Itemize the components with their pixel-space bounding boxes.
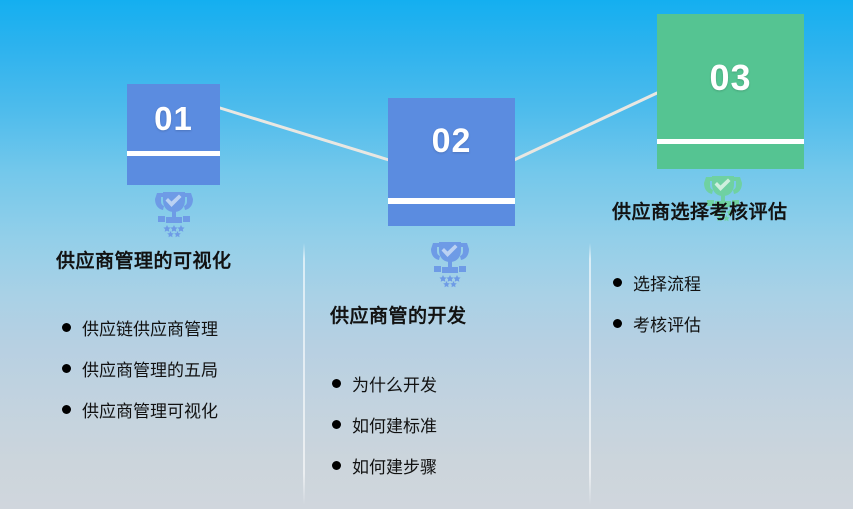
card-title-01: 供应商管理的可视化: [56, 246, 232, 273]
bullet-dot-icon: [332, 420, 341, 429]
step-number-box-03[interactable]: 03: [657, 14, 804, 169]
card-title-02: 供应商管的开发: [330, 301, 467, 328]
connector-02-to-03: [514, 93, 657, 160]
infographic-canvas: 01 供应商管理的可视化 供应链供应商管理 供应商管理的五局 供应商管理可视化 …: [0, 0, 853, 509]
list-item: 供应链供应商管理: [62, 315, 218, 340]
connector-01-to-02: [220, 108, 389, 160]
step-number-label-03: 03: [657, 57, 804, 99]
list-item: 供应商管理可视化: [62, 397, 218, 422]
step-box-accent-bar-01: [127, 151, 220, 156]
card-bullet-list-02: 为什么开发 如何建标准 如何建步骤: [332, 371, 437, 494]
card-bullet-list-01: 供应链供应商管理 供应商管理的五局 供应商管理可视化: [62, 315, 218, 438]
step-number-label-01: 01: [127, 100, 220, 138]
step-number-box-01[interactable]: 01: [127, 84, 220, 185]
list-item: 如何建步骤: [332, 453, 437, 478]
bullet-text: 供应商管理的五局: [82, 356, 218, 381]
bullet-text: 供应商管理可视化: [82, 397, 218, 422]
step-number-box-02[interactable]: 02: [388, 98, 515, 226]
list-item: 选择流程: [613, 270, 701, 295]
card-bullet-list-03: 选择流程 考核评估: [613, 270, 701, 352]
trophy-check-icon: [427, 238, 473, 288]
bullet-dot-icon: [332, 379, 341, 388]
column-divider-2: [589, 243, 591, 505]
bullet-text: 为什么开发: [352, 371, 437, 396]
step-box-accent-bar-02: [388, 198, 515, 204]
bullet-dot-icon: [332, 461, 341, 470]
bullet-text: 考核评估: [633, 311, 701, 336]
bullet-dot-icon: [613, 319, 622, 328]
list-item: 为什么开发: [332, 371, 437, 396]
bullet-dot-icon: [62, 364, 71, 373]
list-item: 如何建标准: [332, 412, 437, 437]
step-number-label-02: 02: [388, 122, 515, 161]
bullet-dot-icon: [62, 405, 71, 414]
trophy-check-icon: [151, 188, 197, 238]
bullet-dot-icon: [62, 323, 71, 332]
bullet-text: 选择流程: [633, 270, 701, 295]
list-item: 考核评估: [613, 311, 701, 336]
bullet-text: 如何建步骤: [352, 453, 437, 478]
list-item: 供应商管理的五局: [62, 356, 218, 381]
bullet-text: 供应链供应商管理: [82, 315, 218, 340]
bullet-dot-icon: [613, 278, 622, 287]
column-divider-1: [303, 243, 305, 505]
step-box-accent-bar-03: [657, 139, 804, 144]
bullet-text: 如何建标准: [352, 412, 437, 437]
card-title-03: 供应商选择考核评估: [612, 197, 788, 224]
